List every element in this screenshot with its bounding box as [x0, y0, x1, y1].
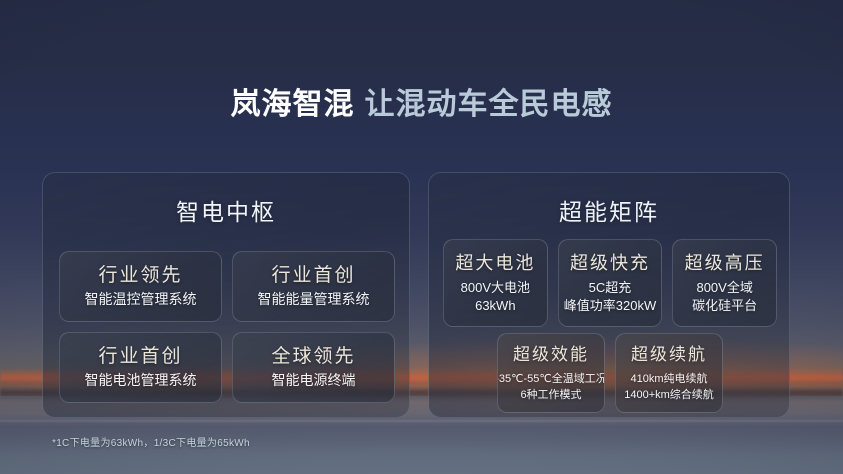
card-title: 全球领先 — [271, 345, 355, 369]
panel-right-card-grid-top: 超大电池 800V大电池 63kWh 超级快充 5C超充 峰值功率320kW 超… — [443, 239, 777, 327]
panel-super-matrix: 超能矩阵 超大电池 800V大电池 63kWh 超级快充 5C超充 峰值功率32… — [428, 172, 790, 418]
card-line-2: 碳化硅平台 — [692, 297, 757, 315]
card-title: 行业领先 — [98, 264, 182, 288]
panel-right-heading: 超能矩阵 — [429, 197, 789, 227]
card-title: 超级快充 — [570, 252, 650, 275]
card-title: 超级效能 — [513, 344, 589, 366]
card-super-efficiency[interactable]: 超级效能 -35℃-55℃全温域工况 6种工作模式 — [497, 333, 605, 413]
card-title: 超级续航 — [631, 344, 707, 366]
card-line-1: 800V大电池 — [461, 279, 530, 297]
card-title: 超级高压 — [685, 252, 765, 275]
page-title-sub: 让混动车全民电感 — [365, 88, 613, 121]
panel-left-heading: 智电中枢 — [43, 197, 409, 227]
page-title: 岚海智混让混动车全民电感 — [0, 85, 843, 125]
card-industry-first-battery[interactable]: 行业首创 智能电池管理系统 — [59, 332, 222, 403]
card-line: 智能能量管理系统 — [258, 290, 370, 309]
card-title: 行业首创 — [98, 345, 182, 369]
card-line-1: -35℃-55℃全温域工况 — [497, 371, 605, 387]
card-line-2: 6种工作模式 — [520, 387, 581, 403]
card-title: 行业首创 — [271, 264, 355, 288]
card-line-1: 5C超充 — [589, 279, 632, 297]
card-line-1: 800V全域 — [696, 279, 752, 297]
card-super-range[interactable]: 超级续航 410km纯电续航 1400+km综合续航 — [615, 333, 723, 413]
card-line-1: 410km纯电续航 — [630, 371, 707, 387]
card-large-battery[interactable]: 超大电池 800V大电池 63kWh — [443, 239, 548, 327]
card-industry-first-energy[interactable]: 行业首创 智能能量管理系统 — [232, 251, 395, 322]
card-industry-leading-thermal[interactable]: 行业领先 智能温控管理系统 — [59, 251, 222, 322]
card-title: 超大电池 — [455, 252, 535, 275]
page-title-main: 岚海智混 — [231, 88, 355, 121]
card-line: 智能电源终端 — [272, 371, 356, 390]
card-high-voltage[interactable]: 超级高压 800V全域 碳化硅平台 — [672, 239, 777, 327]
slide-root: 岚海智混让混动车全民电感 智电中枢 行业领先 智能温控管理系统 行业首创 智能能… — [0, 0, 843, 474]
card-line: 智能温控管理系统 — [85, 290, 197, 309]
footnote-disclaimer: *1C下电量为63kWh，1/3C下电量为65kWh — [52, 437, 250, 451]
card-line-2: 峰值功率320kW — [564, 297, 656, 315]
card-line: 智能电池管理系统 — [85, 371, 197, 390]
panel-left-card-grid: 行业领先 智能温控管理系统 行业首创 智能能量管理系统 行业首创 智能电池管理系… — [59, 251, 395, 403]
card-fast-charging[interactable]: 超级快充 5C超充 峰值功率320kW — [558, 239, 663, 327]
card-line-2: 1400+km综合续航 — [624, 387, 714, 403]
panel-smart-electric-hub: 智电中枢 行业领先 智能温控管理系统 行业首创 智能能量管理系统 行业首创 智能… — [42, 172, 410, 418]
background-water-highlight — [0, 420, 843, 422]
card-line-2: 63kWh — [475, 297, 515, 315]
card-global-leading-power-terminal[interactable]: 全球领先 智能电源终端 — [232, 332, 395, 403]
panel-right-card-grid-bottom: 超级效能 -35℃-55℃全温域工况 6种工作模式 超级续航 410km纯电续航… — [497, 333, 723, 413]
